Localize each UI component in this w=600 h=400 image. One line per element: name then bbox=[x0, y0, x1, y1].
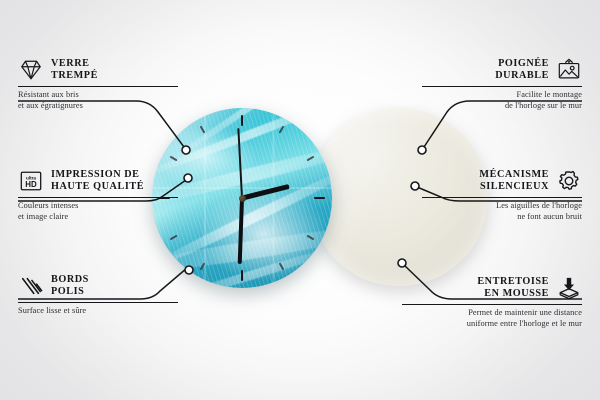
callout-rule bbox=[18, 86, 178, 88]
callout-bords-polis[interactable]: BORDSPOLIS Surface lisse et sûre bbox=[18, 274, 178, 317]
gear-icon bbox=[556, 169, 582, 193]
callout-header: MÉCANISMESILENCIEUX bbox=[422, 169, 582, 194]
callout-header: BORDSPOLIS bbox=[18, 274, 178, 299]
callout-title: VERRETREMPÉ bbox=[51, 58, 98, 83]
callout-title: BORDSPOLIS bbox=[51, 274, 89, 299]
callout-poignee-durable[interactable]: POIGNÉEDURABLE Facilite le montagede l'h… bbox=[422, 58, 582, 111]
callout-title: POIGNÉEDURABLE bbox=[495, 58, 549, 83]
callout-entretoise-en-mousse[interactable]: ENTRETOISEEN MOUSSE Permet de maintenir … bbox=[402, 276, 582, 329]
infographic-canvas: VERRETREMPÉ Résistant aux briset aux égr… bbox=[0, 0, 600, 400]
callout-title: MÉCANISMESILENCIEUX bbox=[479, 169, 549, 194]
callout-subtitle: Les aiguilles de l'horlogene font aucun … bbox=[422, 201, 582, 222]
diamond-icon bbox=[18, 58, 44, 82]
callout-title: ENTRETOISEEN MOUSSE bbox=[477, 276, 549, 301]
callout-subtitle: Couleurs intenseset image claire bbox=[18, 201, 178, 222]
callout-title: IMPRESSION DEHAUTE QUALITÉ bbox=[51, 169, 144, 194]
callout-rule bbox=[422, 197, 582, 199]
callout-header: ultra HD IMPRESSION DEHAUTE QUALITÉ bbox=[18, 169, 178, 194]
callout-header: VERRETREMPÉ bbox=[18, 58, 178, 83]
polished-edges-icon bbox=[18, 274, 44, 298]
clock-center-hub bbox=[239, 195, 246, 202]
callout-subtitle: Permet de maintenir une distanceuniforme… bbox=[402, 308, 582, 329]
callout-subtitle: Surface lisse et sûre bbox=[18, 306, 178, 316]
ultra-hd-icon: ultra HD bbox=[18, 169, 44, 193]
foam-spacer-icon bbox=[556, 276, 582, 300]
callout-rule bbox=[422, 86, 582, 88]
callout-subtitle: Facilite le montagede l'horloge sur le m… bbox=[422, 90, 582, 111]
clock-front-view bbox=[152, 108, 332, 288]
callout-subtitle: Résistant aux briset aux égratignures bbox=[18, 90, 178, 111]
callout-verre-trempe[interactable]: VERRETREMPÉ Résistant aux briset aux égr… bbox=[18, 58, 178, 111]
callout-mecanisme-silencieux[interactable]: MÉCANISMESILENCIEUX Les aiguilles de l'h… bbox=[422, 169, 582, 222]
callout-header: POIGNÉEDURABLE bbox=[422, 58, 582, 83]
svg-text:HD: HD bbox=[25, 180, 37, 189]
callout-impression-haute-qualite[interactable]: ultra HD IMPRESSION DEHAUTE QUALITÉ Coul… bbox=[18, 169, 178, 222]
picture-hanger-icon bbox=[556, 58, 582, 82]
callout-rule bbox=[18, 302, 178, 304]
callout-header: ENTRETOISEEN MOUSSE bbox=[402, 276, 582, 301]
callout-rule bbox=[18, 197, 178, 199]
callout-rule bbox=[402, 304, 582, 306]
